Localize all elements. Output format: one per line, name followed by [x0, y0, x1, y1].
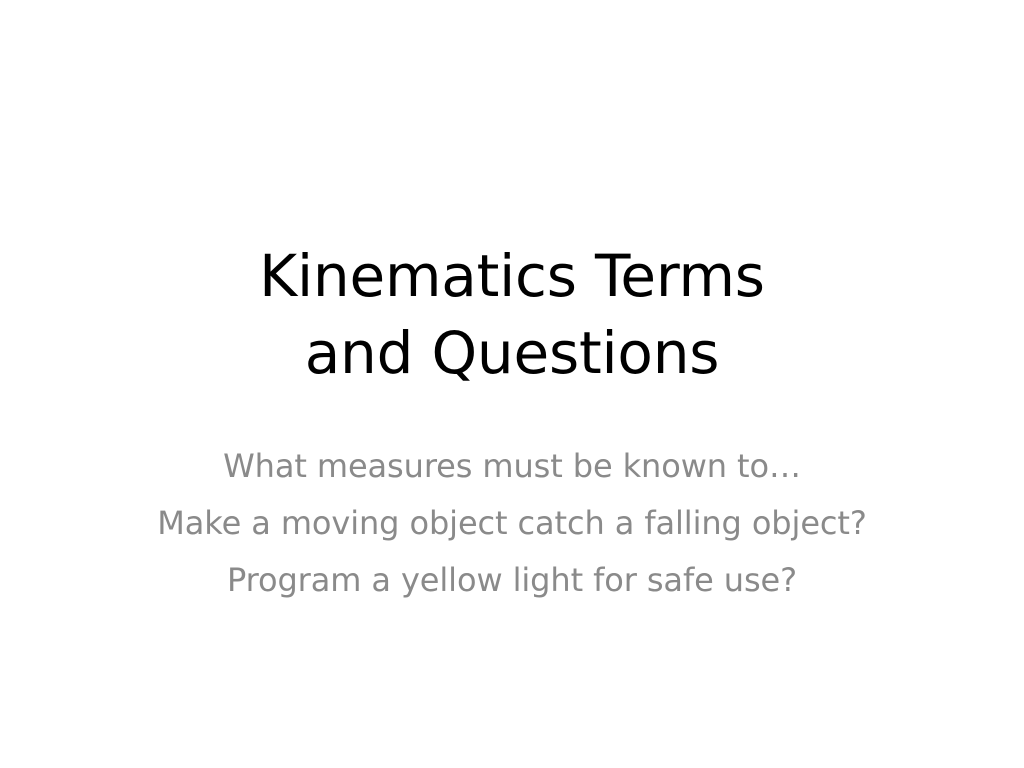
slide-subtitle: What measures must be known to… Make a m…: [0, 438, 1024, 609]
subtitle-line-3: Program a yellow light for safe use?: [0, 552, 1024, 609]
subtitle-line-2: Make a moving object catch a falling obj…: [0, 495, 1024, 552]
title-line-1: Kinematics Terms: [0, 238, 1024, 315]
slide-title: Kinematics Terms and Questions: [0, 238, 1024, 392]
title-line-2: and Questions: [0, 315, 1024, 392]
title-slide: Kinematics Terms and Questions What meas…: [0, 0, 1024, 768]
subtitle-line-1: What measures must be known to…: [0, 438, 1024, 495]
